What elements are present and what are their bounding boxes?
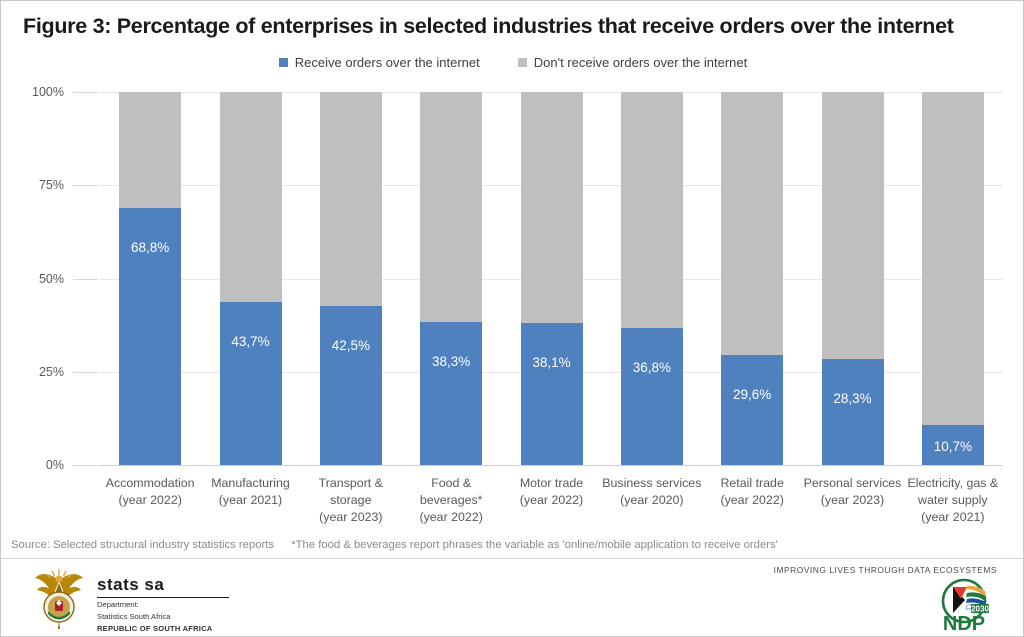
bar-segment-receive[interactable] (220, 302, 282, 465)
statssa-wordmark: stats sa (97, 575, 229, 598)
x-axis-category-line: (year 2022) (392, 509, 510, 526)
bar-segment-receive[interactable] (721, 355, 783, 465)
bar-group[interactable]: 68,8% (119, 92, 181, 465)
bar-group[interactable]: 43,7% (220, 92, 282, 465)
legend-swatch-blue (279, 58, 288, 67)
bar-segment-dont-receive[interactable] (220, 92, 282, 302)
y-tick-label: 50% (39, 272, 64, 286)
x-axis-line (100, 465, 1003, 466)
bar-segment-dont-receive[interactable] (521, 92, 583, 323)
statssa-dept-line1: Department: (97, 600, 229, 610)
bar-group[interactable]: 36,8% (621, 92, 683, 465)
bar-segment-dont-receive[interactable] (822, 92, 884, 359)
footer: stats sa Department: Statistics South Af… (1, 559, 1024, 637)
statssa-dept-line3: REPUBLIC OF SOUTH AFRICA (97, 624, 229, 634)
ndp-tagline: IMPROVING LIVES THROUGH DATA ECOSYSTEMS (721, 559, 1001, 575)
bar-group[interactable]: 42,5% (320, 92, 382, 465)
bar-segment-dont-receive[interactable] (721, 92, 783, 355)
page-title: Figure 3: Percentage of enterprises in s… (23, 14, 1003, 39)
y-tick-label: 25% (39, 365, 64, 379)
y-tick-label: 75% (39, 178, 64, 192)
bar-group[interactable]: 38,1% (521, 92, 583, 465)
y-tick-mark (73, 279, 98, 280)
bar-segment-receive[interactable] (320, 306, 382, 465)
source-note: Source: Selected structural industry sta… (11, 539, 274, 551)
ndp-wordmark-text: NDP (943, 613, 985, 633)
bar-segment-receive[interactable] (922, 425, 984, 465)
ndp-logo-block: IMPROVING LIVES THROUGH DATA ECOSYSTEMS … (721, 559, 1001, 637)
x-axis-category-line: Electricity, gas & (894, 475, 1012, 492)
y-tick-mark (73, 372, 98, 373)
legend-item-receive[interactable]: Receive orders over the internet (279, 55, 480, 70)
bar-segment-receive[interactable] (621, 328, 683, 465)
bar-segment-dont-receive[interactable] (922, 92, 984, 425)
y-tick-label: 100% (32, 85, 64, 99)
plot-area: 68,8%43,7%42,5%38,3%38,1%36,8%29,6%28,3%… (100, 92, 1003, 465)
bar-segment-dont-receive[interactable] (119, 92, 181, 208)
y-tick-mark (73, 465, 98, 466)
plot-frame: 0%25%50%75%100% 68,8%43,7%42,5%38,3%38,1… (71, 92, 1003, 465)
bar-group[interactable]: 10,7% (922, 92, 984, 465)
chart-legend: Receive orders over the internet Don't r… (1, 55, 1024, 70)
bar-segment-dont-receive[interactable] (621, 92, 683, 328)
bar-segment-receive[interactable] (420, 322, 482, 465)
x-axis-category-label: Electricity, gas &water supply(year 2021… (894, 475, 1012, 526)
y-tick-mark (73, 92, 98, 93)
bar-segment-dont-receive[interactable] (420, 92, 482, 322)
bar-group[interactable]: 29,6% (721, 92, 783, 465)
source-footnote: *The food & beverages report phrases the… (291, 539, 778, 551)
legend-label-dont-receive: Don't receive orders over the internet (534, 55, 747, 70)
statssa-dept-line2: Statistics South Africa (97, 612, 229, 622)
bar-segment-receive[interactable] (822, 359, 884, 465)
source-row: Source: Selected structural industry sta… (11, 539, 1015, 551)
coat-of-arms-icon (31, 567, 87, 629)
statssa-logo-block: stats sa Department: Statistics South Af… (31, 567, 229, 634)
bar-group[interactable]: 28,3% (822, 92, 884, 465)
bar-group[interactable]: 38,3% (420, 92, 482, 465)
bar-segment-dont-receive[interactable] (320, 92, 382, 306)
x-axis-category-line: water supply (894, 492, 1012, 509)
legend-swatch-gray (518, 58, 527, 67)
bar-segment-receive[interactable] (521, 323, 583, 465)
y-tick-mark (73, 185, 98, 186)
statssa-text-block: stats sa Department: Statistics South Af… (97, 567, 229, 634)
legend-item-dont-receive[interactable]: Don't receive orders over the internet (518, 55, 747, 70)
ndp-logo-icon: 2030 NDP (927, 577, 1001, 633)
x-axis-category-line: (year 2021) (894, 509, 1012, 526)
y-tick-label: 0% (46, 458, 64, 472)
figure-canvas: Figure 3: Percentage of enterprises in s… (0, 0, 1024, 637)
bar-segment-receive[interactable] (119, 208, 181, 465)
legend-label-receive: Receive orders over the internet (295, 55, 480, 70)
